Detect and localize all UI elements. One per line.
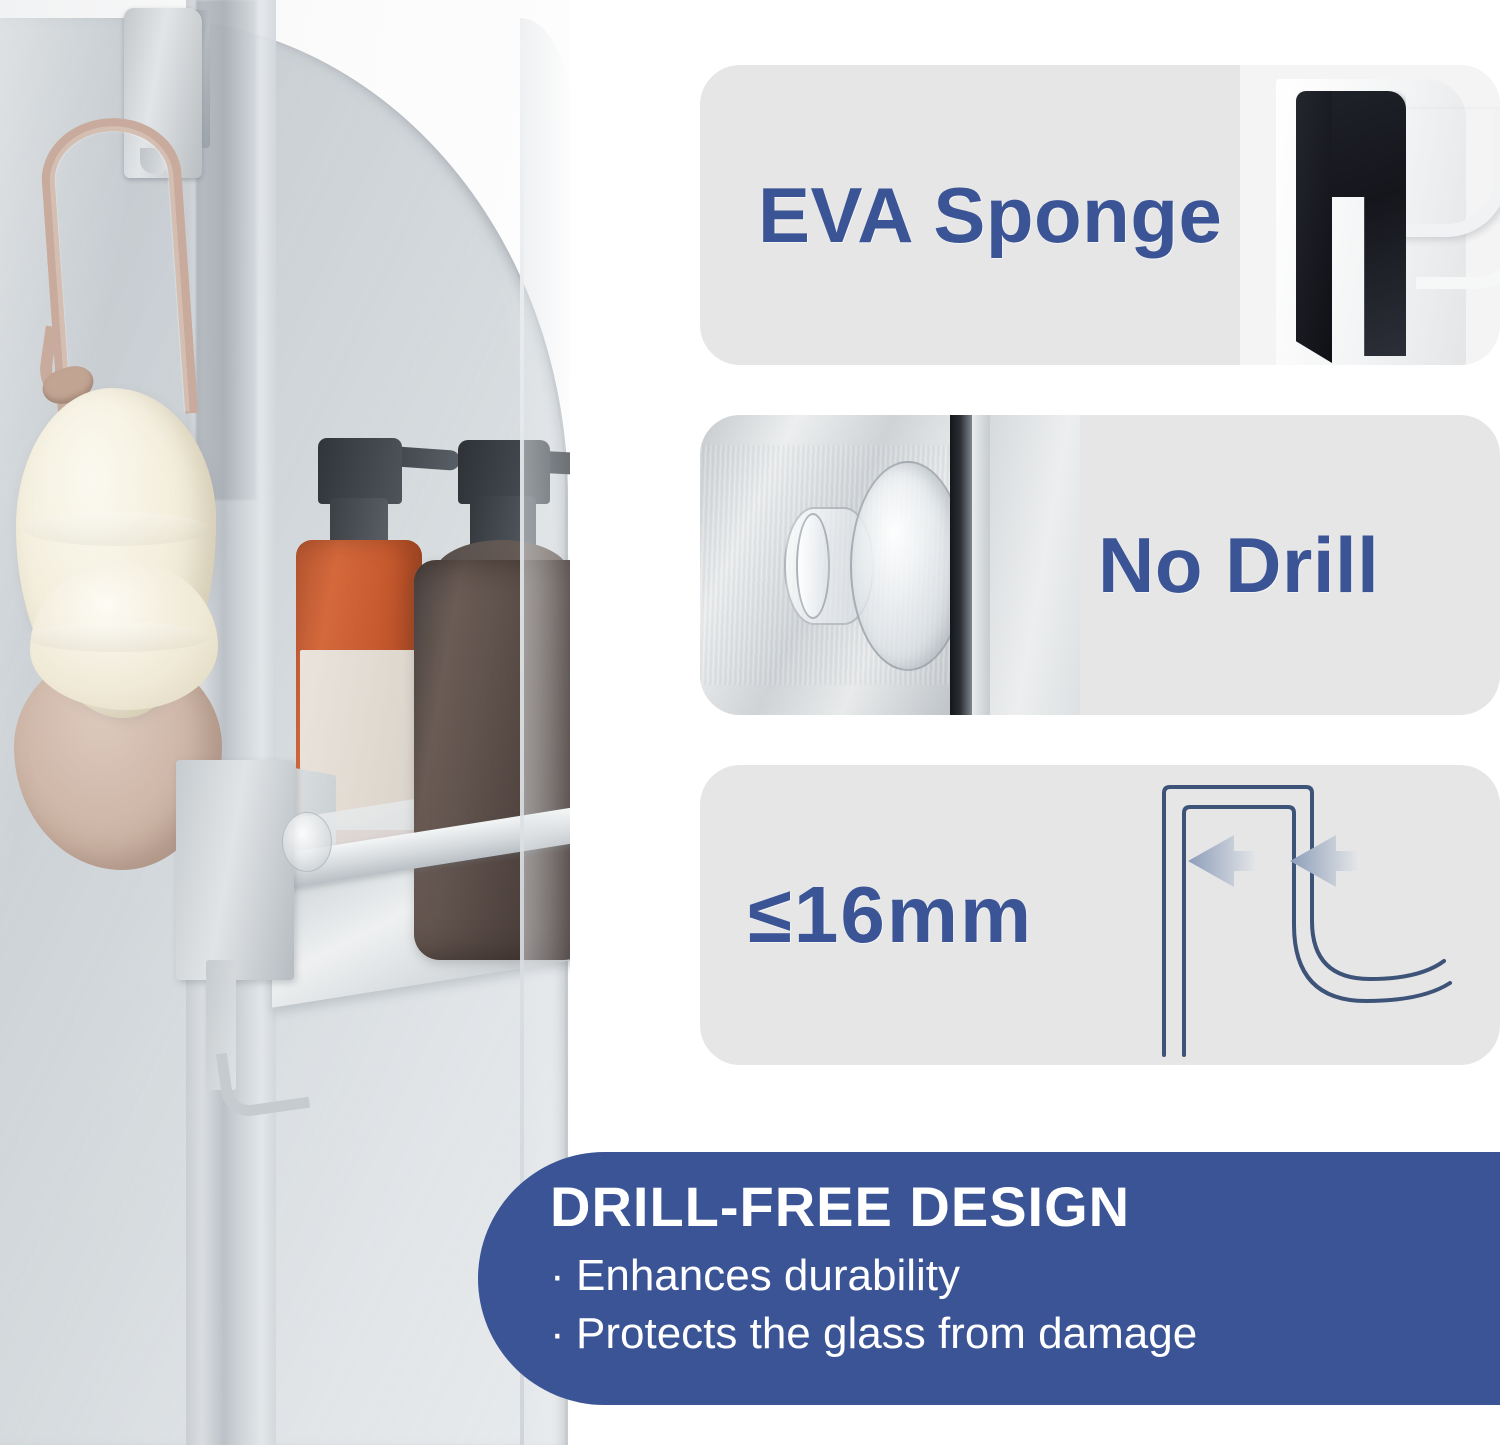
suction-cup-icon: [700, 415, 1080, 715]
hook-profile-svg: [1144, 765, 1474, 1065]
lower-towel-hook: [216, 1042, 310, 1119]
banner-bullet-text: Enhances durability: [576, 1251, 960, 1300]
arrow-right-icon: [1290, 835, 1358, 887]
amber-bottle-pump-head: [318, 438, 402, 504]
bullet-glyph: ·: [550, 1247, 576, 1305]
glass-dark-edge: [950, 415, 972, 715]
suction-cup-ring: [796, 513, 830, 619]
black-hook-bracket-icon: [1240, 65, 1500, 365]
loofah-ridge: [26, 622, 210, 652]
suction-cup-disc: [850, 461, 966, 671]
feature-panel-no-drill[interactable]: No Drill: [700, 415, 1500, 715]
loofah-ridge: [24, 512, 210, 546]
eva-white-arm-inner: [1416, 215, 1500, 289]
bullet-glyph: ·: [550, 1305, 576, 1363]
glass-light-edge: [972, 415, 990, 715]
panel-right-metal: [990, 415, 1080, 715]
product-photo: [0, 0, 570, 1445]
eva-black-hook-face: [1296, 91, 1332, 363]
feature-label-thickness: ≤16mm: [748, 869, 1033, 961]
feature-label-eva-sponge: EVA Sponge: [758, 170, 1222, 261]
banner-bullet-item: ·Protects the glass from damage: [550, 1305, 1500, 1363]
infographic-canvas: EVA Sponge No Drill ≤16mm: [0, 0, 1500, 1445]
banner-bullet-item: ·Enhances durability: [550, 1247, 1500, 1305]
hook-profile-diagram-icon: [1144, 765, 1474, 1065]
banner-bullet-list: ·Enhances durability ·Protects the glass…: [550, 1247, 1500, 1363]
banner-bullet-text: Protects the glass from damage: [576, 1309, 1197, 1358]
drill-free-banner: DRILL-FREE DESIGN ·Enhances durability ·…: [478, 1152, 1500, 1405]
caddy-suction-cup: [282, 812, 332, 872]
dark-pump-bottle: [414, 560, 570, 960]
arrow-left-icon: [1188, 835, 1256, 887]
hook-outer-profile: [1164, 787, 1444, 1055]
dark-bottle-pump-head: [458, 440, 550, 504]
banner-title: DRILL-FREE DESIGN: [550, 1178, 1500, 1237]
caddy-back-plate: [176, 760, 294, 980]
feature-panel-thickness[interactable]: ≤16mm: [700, 765, 1500, 1065]
feature-label-no-drill: No Drill: [1098, 520, 1379, 611]
feature-panel-eva-sponge[interactable]: EVA Sponge: [700, 65, 1500, 365]
